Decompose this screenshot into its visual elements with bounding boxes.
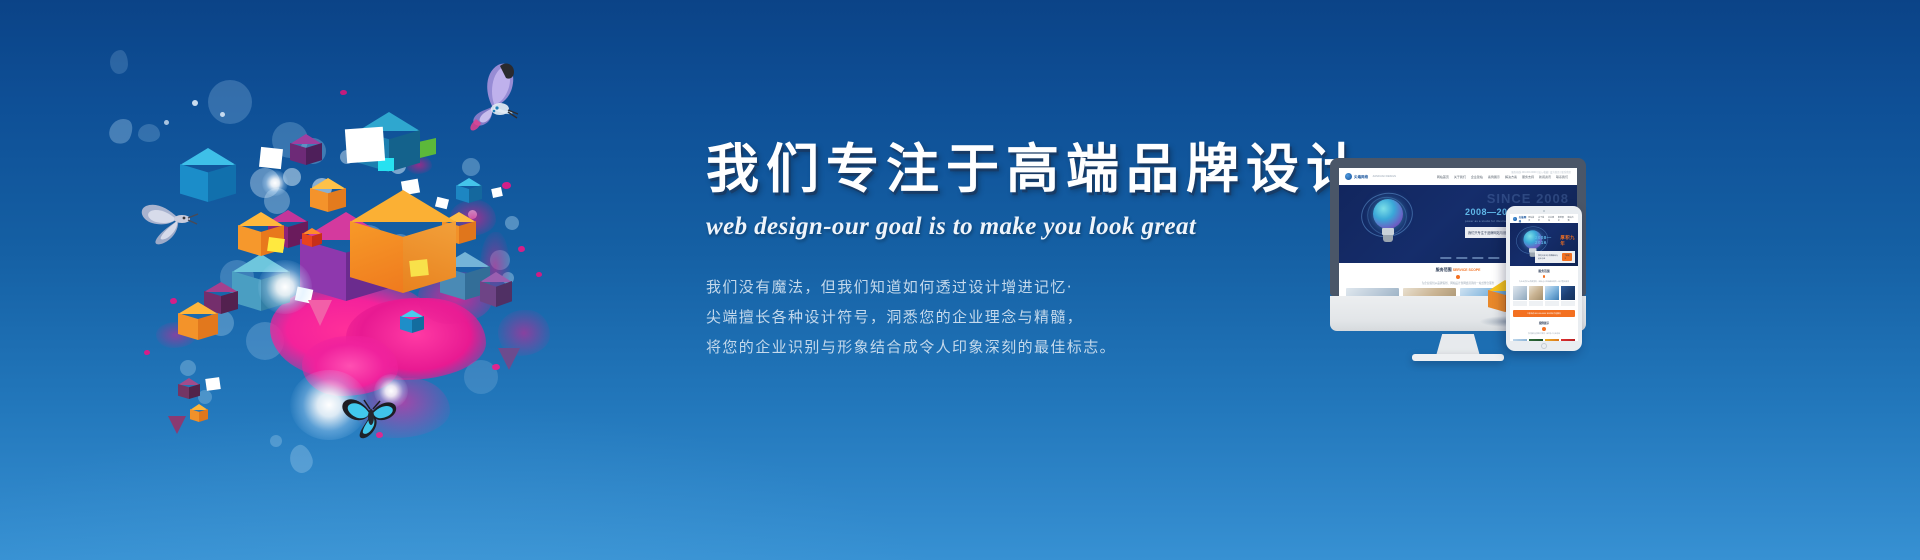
- ink-droplet: [144, 350, 150, 355]
- cube-orange-mid: [310, 178, 346, 216]
- hero-ghost-text: SINCE 2008: [1487, 191, 1569, 206]
- tablet-mockup: 尖端网络 网站首页 关于我们 企业建站 案例展示 解决方案: [1506, 206, 1582, 351]
- cube-facet-green: [420, 138, 436, 158]
- hero-years: 2008—2016 厚积九年: [1535, 235, 1575, 247]
- bubble: [164, 120, 169, 125]
- nav-item: 关于我们: [1538, 216, 1545, 222]
- tablet-screen: 尖端网络 网站首页 关于我们 企业建站 案例展示 解决方案: [1510, 214, 1578, 341]
- section-divider-dot: [1543, 275, 1546, 278]
- logo-subtext: JIANDUAN DESIGN: [1372, 175, 1396, 178]
- nav-item: 案例展示: [1558, 216, 1565, 222]
- cube-left-face: [1488, 290, 1505, 312]
- bulb-base: [1383, 235, 1393, 242]
- home-button-icon[interactable]: [1541, 343, 1547, 349]
- mobile-thumb-captions: [1510, 300, 1578, 308]
- slider-dot: [1488, 257, 1499, 259]
- thumb-caption: [1513, 301, 1527, 306]
- nav-item: 新闻资讯: [1539, 175, 1551, 179]
- confetti-square: [267, 237, 285, 253]
- device-mockups: 尖端网络 JIANDUAN DESIGN 服务热线 400-000-0000 |…: [1330, 158, 1630, 368]
- cube-purple-upper: [290, 134, 322, 168]
- nav-item: 企业建站: [1548, 216, 1555, 222]
- hero-cta-badge: 了解更多: [1562, 253, 1572, 261]
- logo-text: 尖端网络: [1354, 174, 1368, 179]
- section-divider-dot: [1456, 275, 1460, 279]
- cube-orange-bottomleft: [178, 302, 218, 344]
- confetti-square: [345, 127, 385, 164]
- butterfly-violet: [442, 62, 522, 136]
- ink-droplet: [536, 272, 542, 277]
- case-thumb: [1545, 339, 1559, 342]
- confetti-square: [409, 259, 429, 277]
- mobile-service-thumbnails: [1510, 286, 1578, 300]
- nav-item: 解决方案: [1568, 216, 1575, 222]
- lightbulb-graphic: [1361, 197, 1413, 253]
- bubble: [110, 50, 128, 74]
- cube-orange-hero: [350, 190, 456, 304]
- services-title-cn: 服务范围: [1436, 267, 1452, 272]
- case-thumb: [1529, 339, 1543, 342]
- petal-shape: [106, 115, 137, 148]
- nav-item: 网站首页: [1528, 216, 1535, 222]
- confetti-square: [491, 187, 503, 198]
- bubble: [220, 112, 225, 117]
- case-thumb: [1561, 339, 1575, 342]
- site-navbar: 尖端网络 JIANDUAN DESIGN 服务热线 400-000-0000 |…: [1339, 168, 1577, 185]
- mobile-hero-text-box: 2008—2016 厚积九年 我们只专注于品牌网站与设计行业 了解更多: [1535, 235, 1575, 263]
- service-thumb: [1561, 286, 1575, 300]
- bubble: [192, 100, 198, 106]
- mobile-case-grid: [1510, 338, 1578, 342]
- thumb-caption: [1529, 301, 1543, 306]
- ink-droplet: [340, 90, 347, 95]
- service-thumb: [1403, 288, 1456, 296]
- mobile-navbar: 尖端网络 网站首页 关于我们 企业建站 案例展示 解决方案: [1510, 214, 1578, 223]
- hero-years-label: 厚积九年: [1560, 235, 1575, 247]
- mobile-site-logo: 尖端网络: [1513, 215, 1528, 223]
- confetti-square: [259, 147, 283, 169]
- paragraph-line-2: 尖端擅长各种设计符号，洞悉您的企业理念与精髓，: [706, 310, 1306, 325]
- bubble: [180, 360, 196, 376]
- site-top-contact: 服务热线 400-000-0000 | 加入收藏 | 设为首页 | 联系我们: [1511, 170, 1571, 174]
- camera-icon: [1543, 210, 1546, 213]
- site-logo: 尖端网络 JIANDUAN DESIGN: [1345, 173, 1396, 180]
- logo-text: 尖端网络: [1519, 215, 1529, 223]
- section-divider-dot: [1542, 327, 1546, 331]
- shard-triangle: [498, 348, 520, 370]
- abstract-artwork: [150, 60, 610, 460]
- nav-item: 企业建站: [1471, 175, 1483, 179]
- mobile-cta-bar[interactable]: 立即咨询 400-000-0000 专业团队为您服务: [1513, 310, 1575, 317]
- butterfly-cyan: [340, 390, 402, 442]
- services-title: 服务范围: [1510, 269, 1578, 273]
- bulb-globe: [1373, 199, 1403, 229]
- cube-orange-left: [238, 212, 284, 260]
- cube-blue-small: [456, 178, 482, 206]
- bubble: [208, 80, 252, 124]
- case-thumb: [1513, 339, 1527, 342]
- subheadline: web design-our goal is to make you look …: [706, 213, 1306, 241]
- page-title: 我们专注于高端品牌设计: [706, 140, 1306, 199]
- service-thumb: [1346, 288, 1399, 296]
- hero-claim-bar: 我们只专注于品牌网站与设计行业 了解更多: [1535, 251, 1575, 263]
- logo-mark-icon: [1345, 173, 1352, 180]
- nav-item: 案例展示: [1488, 175, 1500, 179]
- hero-banner: 我们专注于高端品牌设计 web design-our goal is to ma…: [0, 0, 1920, 560]
- ink-droplet: [502, 182, 511, 189]
- service-thumb: [1513, 286, 1527, 300]
- hero-years-range: 2008—2016: [1535, 235, 1556, 245]
- services-desc: 为企业提供从品牌策划、网站设计到网络营销的一站式整合服务: [1510, 280, 1578, 283]
- slider-dot: [1440, 257, 1451, 259]
- ink-droplet: [170, 298, 177, 304]
- cases-title: 案例展示: [1510, 321, 1578, 325]
- mobile-services-section: 服务范围 为企业提供从品牌策划、网站设计到网络营销的一站式整合服务: [1510, 266, 1578, 308]
- shard-triangle: [308, 300, 332, 326]
- glow-sparkle: [258, 260, 312, 314]
- bubble: [505, 216, 519, 230]
- site-nav-items: 网站首页 关于我们 企业建站 案例展示 解决方案 服务支持 新闻资讯 联系我们: [1437, 175, 1568, 179]
- thumb-caption: [1561, 301, 1575, 306]
- cube-plum: [480, 272, 512, 312]
- hero-claim-text: 我们只专注于品牌网站与设计行业: [1538, 254, 1559, 260]
- hero-copy: 我们专注于高端品牌设计 web design-our goal is to ma…: [706, 140, 1306, 370]
- glow-sparkle: [262, 170, 288, 196]
- nav-item: 网站首页: [1437, 175, 1449, 179]
- thumb-caption: [1545, 301, 1559, 306]
- bubble: [462, 158, 480, 176]
- hero-ghost-main: SINCE 2008: [1487, 191, 1569, 206]
- cube-plum-bottom: [178, 378, 200, 402]
- cases-desc: 我们服务过的客户案例 · 涵盖多个行业领域: [1510, 333, 1578, 335]
- confetti-square: [205, 377, 221, 391]
- bubble: [138, 124, 160, 142]
- nav-item: 服务支持: [1522, 175, 1534, 179]
- cube-red-small: [302, 228, 322, 250]
- service-thumb: [1545, 286, 1559, 300]
- monitor-neck: [1436, 334, 1480, 356]
- mobile-cases-section: 案例展示 我们服务过的客户案例 · 涵盖多个行业领域: [1510, 319, 1578, 342]
- bulb-neck: [1382, 228, 1394, 235]
- service-thumb: [1529, 286, 1543, 300]
- paragraph-line-3: 将您的企业识别与形象结合成令人印象深刻的最佳标志。: [706, 340, 1306, 355]
- monitor-foot: [1412, 354, 1504, 361]
- body-paragraphs: 我们没有魔法，但我们知道如何透过设计增进记忆‧ 尖端擅长各种设计符号，洞悉您的企…: [706, 280, 1306, 355]
- paragraph-line-1: 我们没有魔法，但我们知道如何透过设计增进记忆‧: [706, 280, 1306, 295]
- slider-dot: [1472, 257, 1483, 259]
- bubble: [198, 390, 212, 404]
- mobile-hero-banner: 2008—2016 厚积九年 我们只专注于品牌网站与设计行业 了解更多: [1510, 223, 1578, 266]
- nav-item: 联系我们: [1556, 175, 1568, 179]
- nav-item: 解决方案: [1505, 175, 1517, 179]
- petal-shape: [286, 442, 316, 475]
- nav-item: 关于我们: [1454, 175, 1466, 179]
- slider-dot: [1456, 257, 1467, 259]
- cube-cyan-tiny: [400, 310, 424, 336]
- bubble: [270, 435, 282, 447]
- cube-orange-tiny: [190, 404, 208, 424]
- services-title-en: SERVICE SCOPE: [1453, 268, 1481, 272]
- butterfly-silver: [138, 188, 214, 250]
- mobile-nav-items: 网站首页 关于我们 企业建站 案例展示 解决方案: [1528, 216, 1575, 222]
- services-title-cn: 服务范围: [1538, 269, 1549, 273]
- hero-slider-dots: [1440, 257, 1499, 259]
- shard-triangle: [168, 416, 186, 434]
- logo-mark-icon: [1513, 217, 1517, 221]
- ink-droplet: [518, 246, 525, 252]
